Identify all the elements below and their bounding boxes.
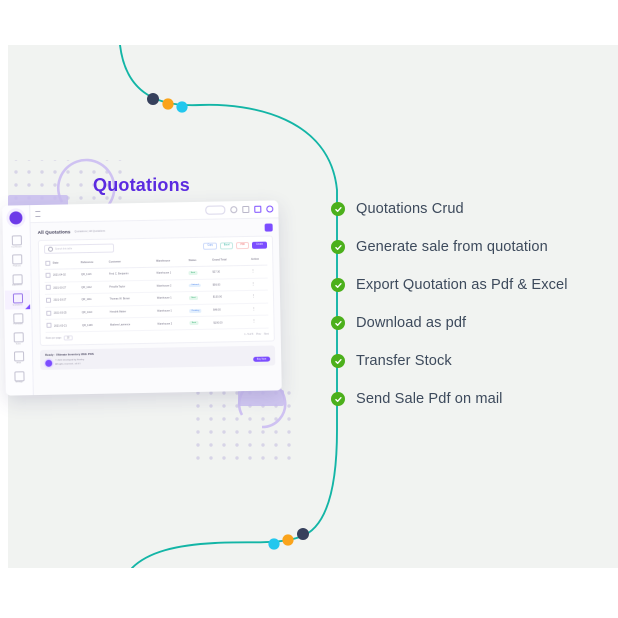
- feature-label: Generate sale from quotation: [356, 239, 548, 255]
- sidebar-item-label: Sales: [6, 344, 31, 346]
- cell-status: Ordered: [188, 279, 212, 292]
- quotations-table: Date Reference Customer Warehouse Status…: [44, 254, 268, 333]
- buy-now-button[interactable]: Buy Now: [253, 356, 270, 362]
- status-badge: Ordered: [189, 284, 201, 288]
- row-actions[interactable]: ⋮: [251, 303, 269, 316]
- row-actions[interactable]: ⋮: [251, 315, 269, 328]
- purchases-icon: [13, 313, 23, 323]
- row-actions[interactable]: ⋮: [250, 265, 268, 278]
- ready-card: Ready - Ultimate Inventory With POS © 20…: [40, 346, 275, 371]
- fullscreen-icon[interactable]: [242, 206, 249, 213]
- search-placeholder: Search this table: [55, 248, 72, 250]
- cell-reference[interactable]: QR_1112: [80, 281, 108, 294]
- page-title: Quotations: [93, 175, 190, 196]
- cell-status: Sent: [189, 317, 213, 330]
- products-icon: [12, 255, 22, 265]
- cell-date: 2021-03-21: [53, 319, 81, 332]
- pdf-button[interactable]: PDF: [236, 242, 249, 249]
- feature-item: Generate sale from quotation: [331, 228, 611, 266]
- feature-item: Send Sale Pdf on mail: [331, 380, 611, 418]
- cell-reference[interactable]: QR_1113: [80, 268, 108, 281]
- column-warehouse[interactable]: Warehouse: [155, 255, 188, 267]
- status-badge: Sent: [189, 271, 197, 275]
- mockup-main: All Quotations Quotations | All Quotatio…: [30, 200, 282, 395]
- column-status[interactable]: Status: [187, 255, 211, 267]
- pagination: 1 - 5 of 5 Prev Next: [244, 333, 269, 335]
- mockup-sidebar: Dashboard Products Adjustment Quotations…: [2, 205, 34, 396]
- sidebar-item-settings[interactable]: Settings: [6, 368, 31, 387]
- sales-icon: [13, 332, 23, 342]
- sidebar-item-label: Settings: [7, 382, 32, 384]
- cell-customer: Fred C. Benjamin: [108, 267, 156, 281]
- sidebar-item-quotations[interactable]: Quotations: [5, 290, 30, 309]
- sidebar-item-label: Dashboard: [4, 247, 29, 249]
- status-badge: Sent: [189, 296, 197, 300]
- hamburger-icon[interactable]: [35, 210, 40, 216]
- cell-date: 2021-04-02: [52, 269, 80, 282]
- brand-logo-icon: [45, 360, 52, 367]
- breadcrumb: Quotations | All Quotations: [74, 229, 105, 233]
- quotations-icon: [12, 294, 22, 304]
- sidebar-item-sales[interactable]: Sales: [6, 329, 31, 348]
- cell-customer: Hendrik Maker: [109, 305, 157, 319]
- status-badge: Sent: [190, 321, 198, 325]
- sidebar-item-hrm[interactable]: HRM: [6, 349, 31, 368]
- create-button[interactable]: Create: [252, 242, 267, 249]
- sidebar-item-label: Adjustment: [5, 285, 30, 287]
- cell-date: 2021-03-25: [53, 306, 81, 319]
- more-options-icon: ⋮: [252, 294, 256, 298]
- mockup-sidebar-nav: Dashboard Products Adjustment Quotations…: [3, 230, 33, 387]
- cell-date: 2021-03-27: [52, 281, 80, 294]
- ready-card-body: © 2021 Developed by Stanley All rights r…: [45, 356, 270, 367]
- feature-label: Send Sale Pdf on mail: [356, 391, 503, 407]
- dashboard-mockup: Dashboard Products Adjustment Quotations…: [2, 200, 282, 395]
- sidebar-item-label: Products: [4, 266, 29, 268]
- cell-status: Sent: [188, 291, 212, 304]
- check-circle-icon: [331, 202, 345, 216]
- feature-list: Quotations Crud Generate sale from quota…: [331, 190, 611, 418]
- cell-reference[interactable]: QR_1111: [80, 293, 108, 306]
- mockup-page-title: All Quotations: [38, 229, 71, 235]
- feature-label: Download as pdf: [356, 315, 466, 331]
- cell-customer: Mathew Lawrence: [109, 318, 157, 332]
- column-reference[interactable]: Reference: [80, 257, 108, 269]
- cell-warehouse: Warehouse 1: [156, 292, 189, 305]
- sidebar-item-adjustment[interactable]: Adjustment: [4, 271, 29, 290]
- grid-toggle-icon[interactable]: [265, 223, 273, 231]
- ready-card-text: © 2021 Developed by Stanley All rights r…: [55, 360, 84, 367]
- settings-icon: [14, 371, 24, 381]
- sidebar-item-purchases[interactable]: Purchases: [5, 310, 30, 329]
- app-logo-icon: [9, 211, 22, 224]
- feature-item: Export Quotation as Pdf & Excel: [331, 266, 611, 304]
- column-spacer: [239, 254, 250, 266]
- cell-total: $100.00: [212, 316, 240, 329]
- cell-warehouse: Warehouse 2: [156, 279, 189, 292]
- status-badge: Pending: [189, 309, 201, 313]
- hrm-icon: [14, 352, 24, 362]
- cell-status: Pending: [188, 304, 212, 317]
- sidebar-item-label: Quotations: [5, 305, 30, 307]
- topbar-actions: [205, 204, 273, 214]
- pagination-range: 1 - 5 of 5: [244, 333, 253, 335]
- sidebar-item-label: Purchases: [5, 324, 30, 326]
- cell-reference[interactable]: QR_1110: [81, 306, 109, 319]
- table-toolbar: Search this table Copy Excel PDF Create: [44, 241, 267, 254]
- page-header: All Quotations Quotations | All Quotatio…: [38, 223, 273, 236]
- column-date[interactable]: Date: [52, 257, 80, 269]
- feature-item: Transfer Stock: [331, 342, 611, 380]
- sidebar-item-label: HRM: [6, 363, 31, 365]
- more-options-icon: ⋮: [252, 319, 256, 323]
- feature-label: Quotations Crud: [356, 201, 464, 217]
- cell-total: $48.00: [212, 303, 240, 316]
- search-icon: [48, 247, 53, 252]
- table-footer: Rows per page: 10 1 - 5 of 5 Prev Next: [46, 332, 269, 341]
- bell-icon[interactable]: [254, 206, 261, 213]
- sidebar-item-products[interactable]: Products: [4, 252, 29, 271]
- quotations-card: Search this table Copy Excel PDF Create: [38, 235, 275, 346]
- export-buttons: Copy Excel PDF Create: [203, 242, 267, 250]
- check-circle-icon: [331, 240, 345, 254]
- check-circle-icon: [331, 392, 345, 406]
- rows-per-page-label: Rows per page:: [46, 337, 62, 339]
- cell-status: Sent: [188, 266, 212, 279]
- cell-total: $56.00: [212, 278, 240, 291]
- row-actions[interactable]: ⋮: [251, 290, 269, 303]
- cell-customer: Thomas W. Brown: [108, 292, 156, 306]
- more-options-icon: ⋮: [251, 269, 255, 273]
- cell-customer: Priscilla Taylor: [108, 280, 156, 294]
- mockup-page: All Quotations Quotations | All Quotatio…: [31, 218, 282, 395]
- cell-date: 2021-03-27: [52, 294, 80, 307]
- adjustment-icon: [12, 274, 22, 284]
- pagination-prev[interactable]: Prev: [256, 333, 261, 335]
- cell-total: $27.30: [211, 266, 239, 279]
- cell-warehouse: Warehouse 2: [156, 317, 189, 330]
- feature-label: Export Quotation as Pdf & Excel: [356, 277, 568, 293]
- check-circle-icon: [331, 278, 345, 292]
- check-circle-icon: [331, 316, 345, 330]
- cell-total: $130.00: [212, 291, 240, 304]
- avatar-icon[interactable]: [266, 205, 273, 212]
- column-grand-total[interactable]: Grand Total: [211, 254, 239, 266]
- more-options-icon: ⋮: [251, 281, 255, 285]
- copy-button[interactable]: Copy: [203, 243, 217, 250]
- cell-reference[interactable]: QR_1109: [81, 319, 109, 332]
- cell-warehouse: Warehouse 1: [156, 304, 189, 317]
- search-input[interactable]: Search this table: [44, 244, 114, 254]
- sidebar-item-dashboard[interactable]: Dashboard: [4, 232, 29, 251]
- feature-label: Transfer Stock: [356, 353, 452, 369]
- column-action: Action: [250, 254, 268, 266]
- pagination-next[interactable]: Next: [264, 333, 269, 335]
- rows-per-page-select[interactable]: 10: [64, 335, 73, 340]
- screenshot-root: Quotations Dashboard Products Adjustment: [0, 0, 618, 618]
- version-line: All rights reserved - v4.0.1: [55, 363, 84, 367]
- excel-button[interactable]: Excel: [220, 242, 234, 249]
- pos-badge[interactable]: [205, 205, 225, 214]
- column-customer[interactable]: Customer: [108, 256, 156, 268]
- check-circle-icon: [331, 354, 345, 368]
- feature-item: Download as pdf: [331, 304, 611, 342]
- more-options-icon: ⋮: [252, 307, 256, 311]
- dashboard-icon: [11, 235, 21, 245]
- cell-warehouse: Warehouse 1: [155, 267, 188, 280]
- refresh-icon[interactable]: [230, 206, 237, 213]
- feature-item: Quotations Crud: [331, 190, 611, 228]
- row-actions[interactable]: ⋮: [250, 278, 268, 291]
